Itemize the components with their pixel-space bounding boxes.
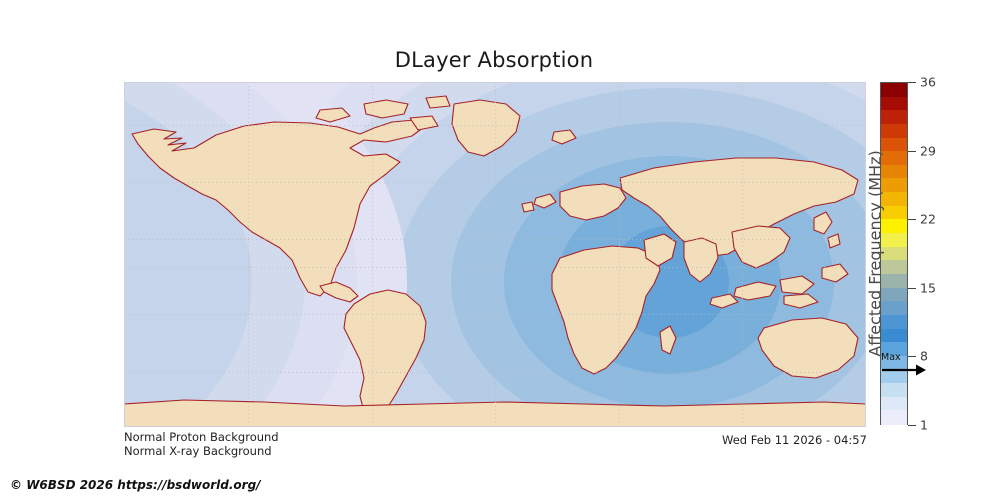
- colorbar-tick: [908, 151, 916, 152]
- colorbar-tick: [908, 219, 916, 220]
- colorbar-segment: [881, 410, 907, 425]
- colorbar-segment: [881, 151, 907, 166]
- colorbar-segment: [881, 97, 907, 112]
- copyright-icon: ©: [10, 478, 22, 492]
- colorbar-segment: [881, 138, 907, 153]
- xray-background-status: Normal X-ray Background: [124, 444, 272, 458]
- max-arrow-icon: [882, 364, 926, 376]
- colorbar-segment: [881, 288, 907, 303]
- colorbar-segment: [881, 315, 907, 330]
- colorbar-segment: [881, 274, 907, 289]
- colorbar-segment: [881, 192, 907, 207]
- colorbar-segment: [881, 301, 907, 316]
- max-marker-label: Max: [881, 352, 901, 363]
- colorbar-tick: [908, 82, 916, 83]
- map-border: [124, 82, 866, 427]
- colorbar-segment: [881, 178, 907, 193]
- colorbar-segment: [881, 83, 907, 98]
- colorbar-tick: [908, 425, 916, 426]
- colorbar-segment: [881, 219, 907, 234]
- colorbar-segment: [881, 110, 907, 125]
- colorbar-segment: [881, 397, 907, 412]
- dlayer-absorption-plot: DLayer Absorption: [0, 0, 1000, 500]
- world-map[interactable]: [124, 82, 866, 427]
- colorbar-segment: [881, 206, 907, 221]
- footer-text: W6BSD 2026 https://bsdworld.org/: [26, 478, 260, 492]
- colorbar-segment: [881, 260, 907, 275]
- colorbar-segment: [881, 329, 907, 344]
- timestamp: Wed Feb 11 2026 - 04:57: [722, 433, 867, 447]
- colorbar-segment: [881, 165, 907, 180]
- proton-background-status: Normal Proton Background: [124, 430, 279, 444]
- footer-credit: © W6BSD 2026 https://bsdworld.org/: [10, 478, 261, 492]
- colorbar-segment: [881, 247, 907, 262]
- colorbar-label-text: Affected Frequency (MHz): [865, 150, 884, 356]
- colorbar-tick: [908, 288, 916, 289]
- colorbar-segment: [881, 233, 907, 248]
- page-title: DLayer Absorption: [0, 48, 988, 72]
- colorbar-segment: [881, 124, 907, 139]
- max-marker: Max: [880, 352, 940, 376]
- colorbar-segment: [881, 383, 907, 398]
